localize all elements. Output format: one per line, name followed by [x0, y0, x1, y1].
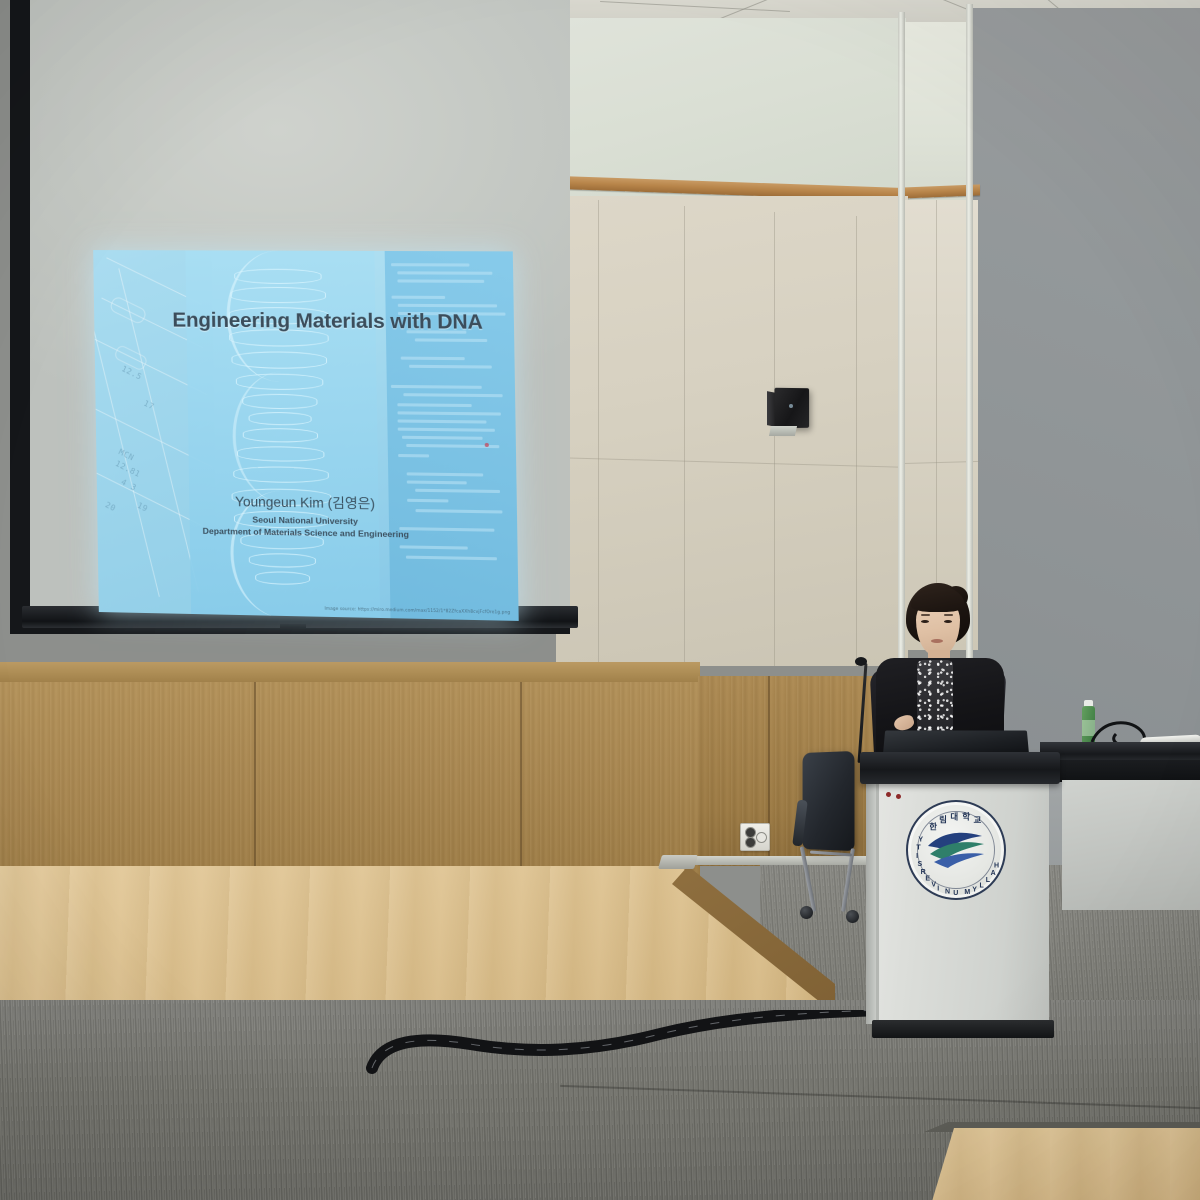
code-background-graphic: [385, 251, 519, 621]
side-desk-top: [1040, 742, 1200, 762]
dna-helix-graphic: [185, 250, 380, 618]
wood-wall-cap: [0, 662, 700, 684]
presenter-eyebrow: [944, 614, 953, 616]
lectern-control-buttons[interactable]: [886, 792, 908, 801]
wall-outlet-plate[interactable]: [740, 823, 770, 851]
speaker-bracket: [769, 426, 797, 436]
presenter-eyebrow: [921, 614, 930, 616]
wood-panel-wall: [0, 682, 700, 892]
lectern-base: [872, 1020, 1054, 1038]
speaker-led-icon: [789, 404, 793, 408]
wall-mullion: [966, 4, 973, 664]
side-desk-front: [1040, 760, 1200, 782]
office-chair-caster: [800, 906, 813, 919]
lectern-top-surface: [860, 752, 1060, 784]
office-chair-caster: [846, 910, 859, 923]
stage-metal-plate: [658, 855, 698, 869]
slide-title: Engineering Materials with DNA: [172, 309, 489, 335]
wall-speaker: [774, 388, 809, 429]
hallym-university-logo: 한 림 대 학 교 H A L L Y M U N I V E R S I T …: [906, 800, 1006, 900]
wall-mullion: [898, 12, 905, 662]
presenter-eye: [921, 620, 929, 623]
projected-slide: 12.5 17 MCN 12.81 4 3 19 20: [93, 250, 519, 621]
logo-english-arc-text: H A L L Y M U N I V E R S I T Y: [908, 802, 1004, 898]
wooden-step: [930, 1128, 1200, 1200]
projection-screen-pull-handle[interactable]: [280, 624, 306, 633]
side-desk-panel: [1062, 780, 1200, 910]
microphone-head-icon: [855, 657, 867, 666]
office-chair-back[interactable]: [803, 751, 855, 851]
beige-acoustic-panel-wall: [556, 196, 908, 666]
presenter-eye: [944, 620, 952, 623]
presenter-mouth: [931, 639, 943, 643]
lecture-hall-photo: 12.5 17 MCN 12.81 4 3 19 20: [0, 0, 1200, 1200]
